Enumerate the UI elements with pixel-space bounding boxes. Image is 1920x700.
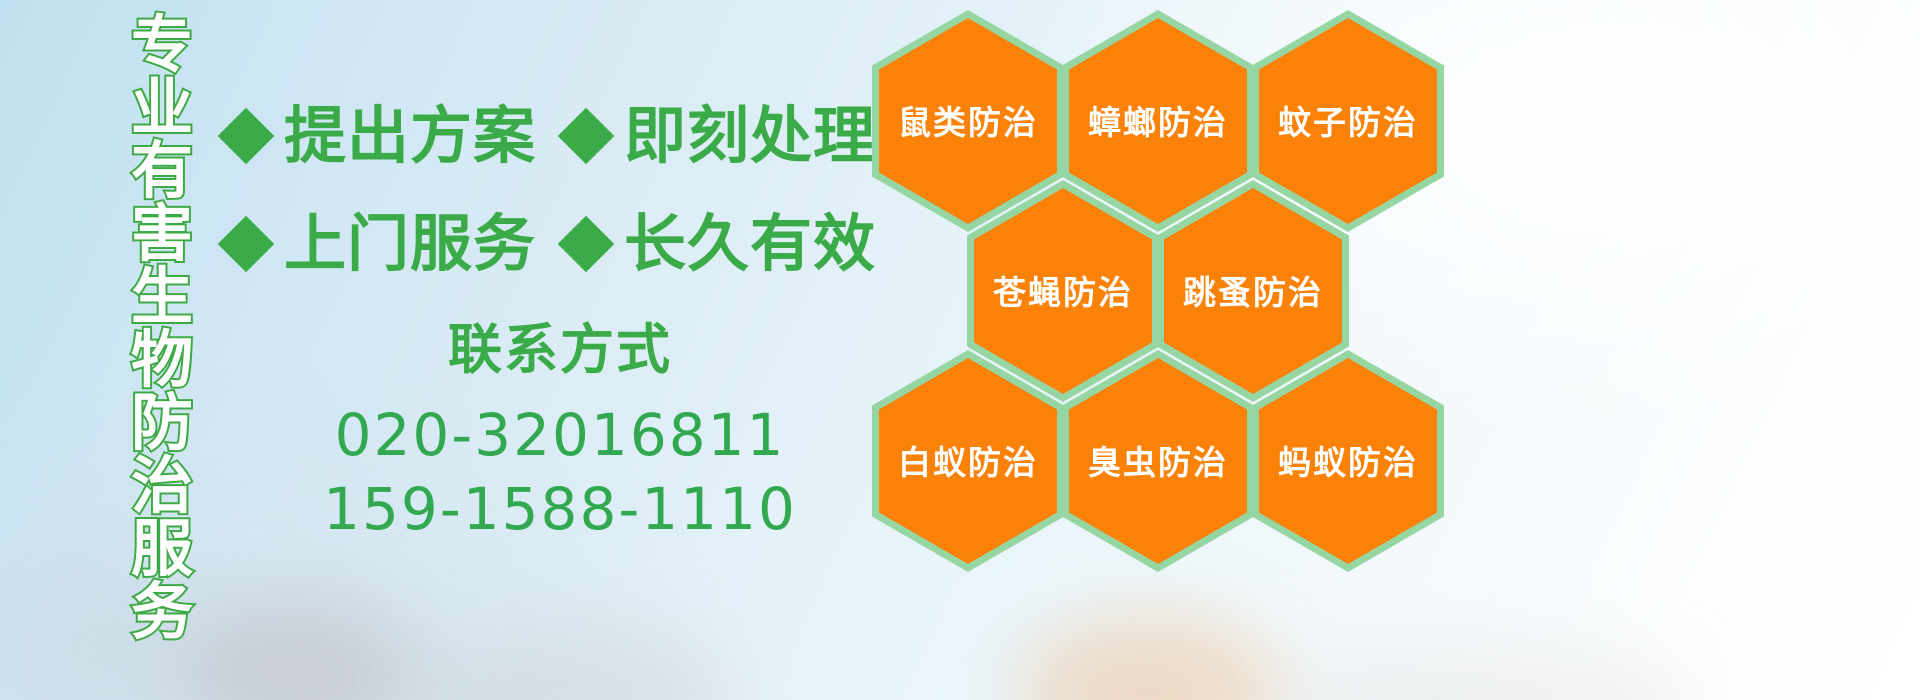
- background-blur-blob: [180, 600, 420, 700]
- hexagon-fill: 蟑螂防治: [1069, 18, 1247, 224]
- contact-title: 联系方式: [300, 318, 820, 382]
- feature-item: 长久有效: [566, 213, 876, 275]
- feature-row: 提出方案 即刻处理: [226, 82, 866, 190]
- service-honeycomb: 鼠类防治蟑螂防治蚊子防治苍蝇防治跳蚤防治白蚁防治臭虫防治蚂蚁防治: [862, 2, 1462, 582]
- hexagon-fill: 蚊子防治: [1259, 18, 1437, 224]
- contact-block: 联系方式 020-32016811 159-1588-1110: [300, 318, 820, 546]
- service-hexagon-label: 苍蝇防治: [993, 275, 1133, 311]
- phone-number-mobile[interactable]: 159-1588-1110: [300, 472, 820, 546]
- vertical-headline-char: 有: [131, 140, 193, 202]
- feature-label: 上门服务: [284, 213, 536, 275]
- hexagon-fill: 白蚁防治: [879, 358, 1057, 564]
- vertical-headline-char: 服: [131, 518, 193, 580]
- hexagon-fill: 鼠类防治: [879, 18, 1057, 224]
- background-blur-blob: [1280, 648, 1700, 700]
- vertical-headline-char: 业: [131, 77, 193, 139]
- vertical-headline-char: 物: [131, 329, 193, 391]
- vertical-headline-char: 专: [131, 14, 193, 76]
- feature-item: 提出方案: [226, 105, 536, 167]
- service-hexagon-label: 蚊子防治: [1278, 105, 1418, 141]
- feature-item: 即刻处理: [566, 105, 876, 167]
- diamond-icon: [218, 216, 275, 273]
- service-hexagon-label: 跳蚤防治: [1183, 275, 1323, 311]
- feature-item: 上门服务: [226, 213, 536, 275]
- hexagon-fill: 蚂蚁防治: [1259, 358, 1437, 564]
- diamond-icon: [218, 108, 275, 165]
- diamond-icon: [558, 216, 615, 273]
- service-hexagon-label: 臭虫防治: [1088, 445, 1228, 481]
- feature-row: 上门服务 长久有效: [226, 190, 866, 298]
- feature-list: 提出方案 即刻处理 上门服务 长久有效: [226, 82, 866, 298]
- service-hexagon-label: 蟑螂防治: [1088, 105, 1228, 141]
- diamond-icon: [558, 108, 615, 165]
- service-hexagon-label: 蚂蚁防治: [1278, 445, 1418, 481]
- hexagon-fill: 跳蚤防治: [1164, 188, 1342, 394]
- vertical-headline-char: 务: [131, 581, 193, 643]
- background-blur-blob: [1020, 618, 1280, 700]
- vertical-headline-char: 防: [131, 392, 193, 454]
- hexagon-fill: 臭虫防治: [1069, 358, 1247, 564]
- vertical-headline-char: 害: [131, 203, 193, 265]
- feature-label: 长久有效: [624, 213, 876, 275]
- service-hexagon-label: 白蚁防治: [898, 445, 1038, 481]
- hexagon-fill: 苍蝇防治: [974, 188, 1152, 394]
- phone-number-landline[interactable]: 020-32016811: [300, 398, 820, 472]
- vertical-headline-char: 治: [131, 455, 193, 517]
- feature-label: 提出方案: [284, 105, 536, 167]
- background-blur-blob: [420, 630, 740, 700]
- vertical-headline: 专业有害生物防治服务: [108, 14, 216, 574]
- pest-control-banner: 专业有害生物防治服务 提出方案 即刻处理 上门服务 长久有效 联系方式: [0, 0, 1920, 700]
- feature-label: 即刻处理: [624, 105, 876, 167]
- vertical-headline-char: 生: [131, 266, 193, 328]
- service-hexagon-label: 鼠类防治: [898, 105, 1038, 141]
